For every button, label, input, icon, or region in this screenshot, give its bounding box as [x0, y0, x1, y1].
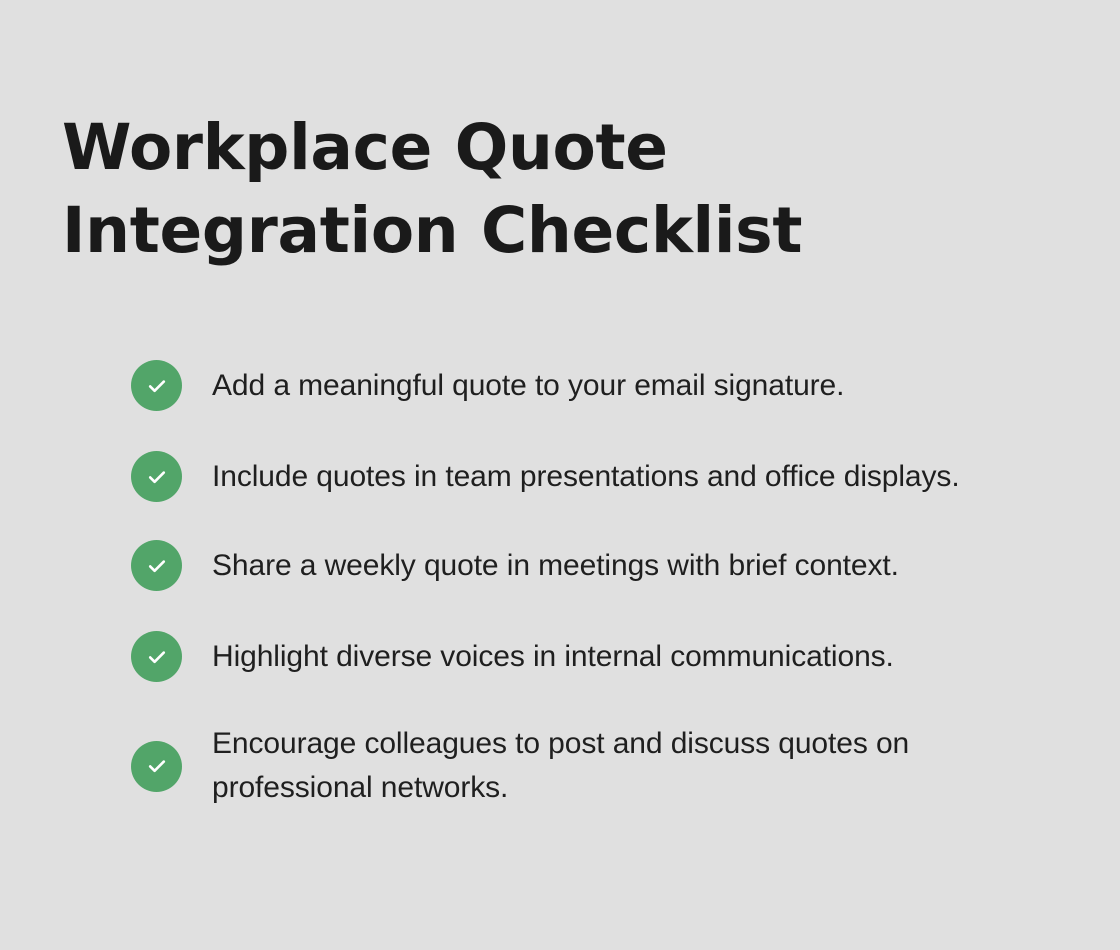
title-block: Workplace Quote Integration Checklist: [62, 106, 1007, 272]
check-circle-icon: [131, 631, 182, 682]
list-item-label: Highlight diverse voices in internal com…: [212, 635, 894, 679]
list-item-label: Add a meaningful quote to your email sig…: [212, 364, 844, 408]
checklist: Add a meaningful quote to your email sig…: [131, 360, 1031, 810]
page-title: Workplace Quote Integration Checklist: [62, 106, 1007, 272]
list-item[interactable]: Add a meaningful quote to your email sig…: [131, 360, 1031, 411]
list-item[interactable]: Share a weekly quote in meetings with br…: [131, 540, 1031, 591]
check-circle-icon: [131, 741, 182, 792]
check-circle-icon: [131, 360, 182, 411]
list-item[interactable]: Include quotes in team presentations and…: [131, 451, 1031, 502]
check-circle-icon: [131, 451, 182, 502]
slide-canvas: Workplace Quote Integration Checklist Ad…: [0, 0, 1120, 950]
list-item-label: Encourage colleagues to post and discuss…: [212, 722, 1002, 810]
check-circle-icon: [131, 540, 182, 591]
list-item[interactable]: Highlight diverse voices in internal com…: [131, 631, 1031, 682]
list-item[interactable]: Encourage colleagues to post and discuss…: [131, 722, 1031, 810]
list-item-label: Share a weekly quote in meetings with br…: [212, 544, 899, 588]
list-item-label: Include quotes in team presentations and…: [212, 455, 960, 499]
